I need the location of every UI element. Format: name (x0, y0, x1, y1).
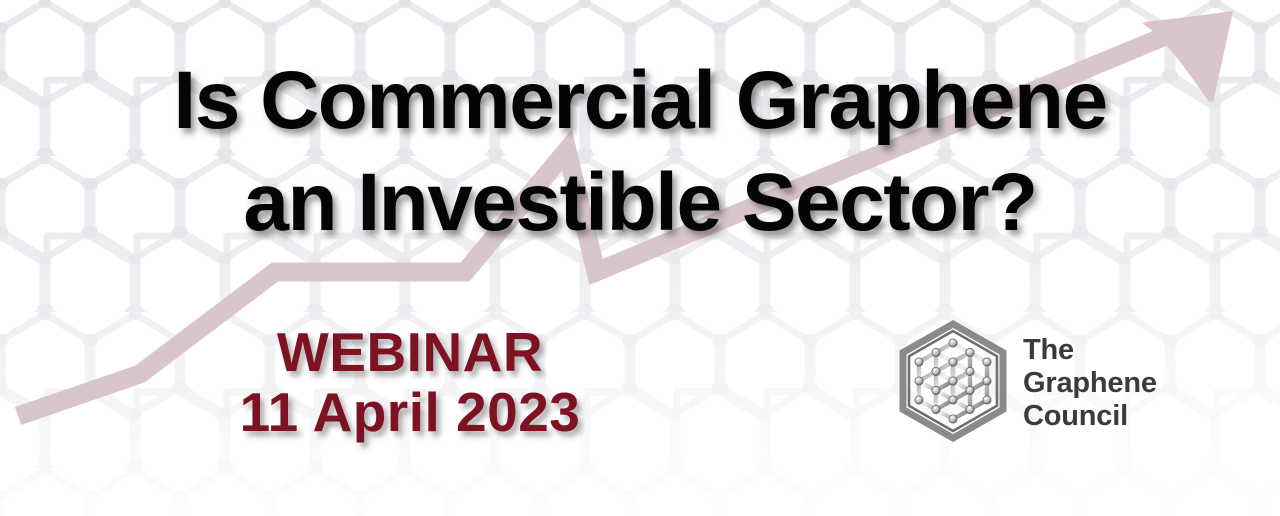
graphene-hexagon-molecule-icon (893, 319, 1013, 447)
event-info: WEBINAR 11 April 2023 (130, 322, 690, 442)
banner-content: Is Commercial Graphene an Investible Sec… (0, 0, 1280, 516)
webinar-banner: Is Commercial Graphene an Investible Sec… (0, 0, 1280, 516)
headline-line-2: an Investible Sector? (0, 160, 1280, 246)
graphene-council-logo: The Graphene Council (893, 318, 1193, 448)
headline-line-1: Is Commercial Graphene (0, 58, 1280, 144)
graphene-council-wordmark: The Graphene Council (1023, 334, 1157, 433)
event-type-label: WEBINAR (130, 322, 690, 382)
event-date: 11 April 2023 (130, 382, 690, 442)
wordmark-line-3: Council (1023, 400, 1157, 433)
wordmark-line-1: The (1023, 334, 1157, 367)
wordmark-line-2: Graphene (1023, 367, 1157, 400)
